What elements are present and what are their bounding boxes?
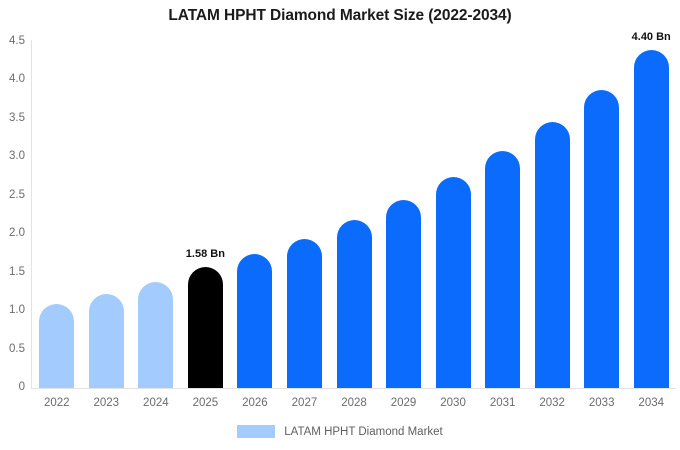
bar[interactable] xyxy=(287,239,322,388)
y-axis-tick-label: 2.5 xyxy=(0,190,25,201)
bar[interactable] xyxy=(237,254,272,388)
x-axis-tick-label: 2028 xyxy=(329,397,379,409)
y-axis-tick-label: 3.5 xyxy=(0,113,25,124)
x-axis-tick-label: 2033 xyxy=(577,397,627,409)
bar[interactable] xyxy=(337,220,372,388)
bar[interactable] xyxy=(89,294,124,388)
plot-area xyxy=(31,42,676,388)
y-axis-tick-label: 4.0 xyxy=(0,74,25,85)
bar[interactable] xyxy=(535,122,570,388)
bar[interactable] xyxy=(188,267,223,388)
x-axis-tick-label: 2027 xyxy=(279,397,329,409)
bar[interactable] xyxy=(138,282,173,388)
y-axis-tick-label: 0.5 xyxy=(0,344,25,355)
y-axis-tick-label: 3.0 xyxy=(0,151,25,162)
chart-title: LATAM HPHT Diamond Market Size (2022-203… xyxy=(0,7,680,25)
x-axis-tick-label: 2032 xyxy=(527,397,577,409)
bar[interactable] xyxy=(386,200,421,388)
bar-chart: LATAM HPHT Diamond Market Size (2022-203… xyxy=(0,0,680,450)
y-axis-tick-label: 0 xyxy=(0,382,25,393)
x-axis-tick-label: 2031 xyxy=(478,397,528,409)
bar[interactable] xyxy=(436,177,471,388)
data-label: 1.58 Bn xyxy=(165,248,245,260)
chart-legend: LATAM HPHT Diamond Market xyxy=(0,425,680,438)
bar[interactable] xyxy=(634,50,669,388)
y-axis-tick-label: 2.0 xyxy=(0,228,25,239)
bar[interactable] xyxy=(39,304,74,388)
x-axis-tick-label: 2029 xyxy=(379,397,429,409)
x-axis-tick-label: 2034 xyxy=(626,397,676,409)
legend-swatch-latam-hpht-diamond-market xyxy=(237,425,275,438)
x-axis-tick-label: 2025 xyxy=(180,397,230,409)
x-axis-tick-label: 2024 xyxy=(131,397,181,409)
y-axis-tick-label: 4.5 xyxy=(0,36,25,47)
bar[interactable] xyxy=(584,90,619,388)
x-axis-tick-label: 2022 xyxy=(32,397,82,409)
x-axis-line xyxy=(31,388,676,389)
y-axis-tick-label: 1.0 xyxy=(0,305,25,316)
x-axis-tick-label: 2030 xyxy=(428,397,478,409)
x-axis-tick-label: 2026 xyxy=(230,397,280,409)
x-axis-tick-label: 2023 xyxy=(81,397,131,409)
legend-label: LATAM HPHT Diamond Market xyxy=(284,426,442,438)
data-label: 4.40 Bn xyxy=(611,31,680,43)
y-axis-tick-label: 1.5 xyxy=(0,267,25,278)
bar[interactable] xyxy=(485,151,520,388)
